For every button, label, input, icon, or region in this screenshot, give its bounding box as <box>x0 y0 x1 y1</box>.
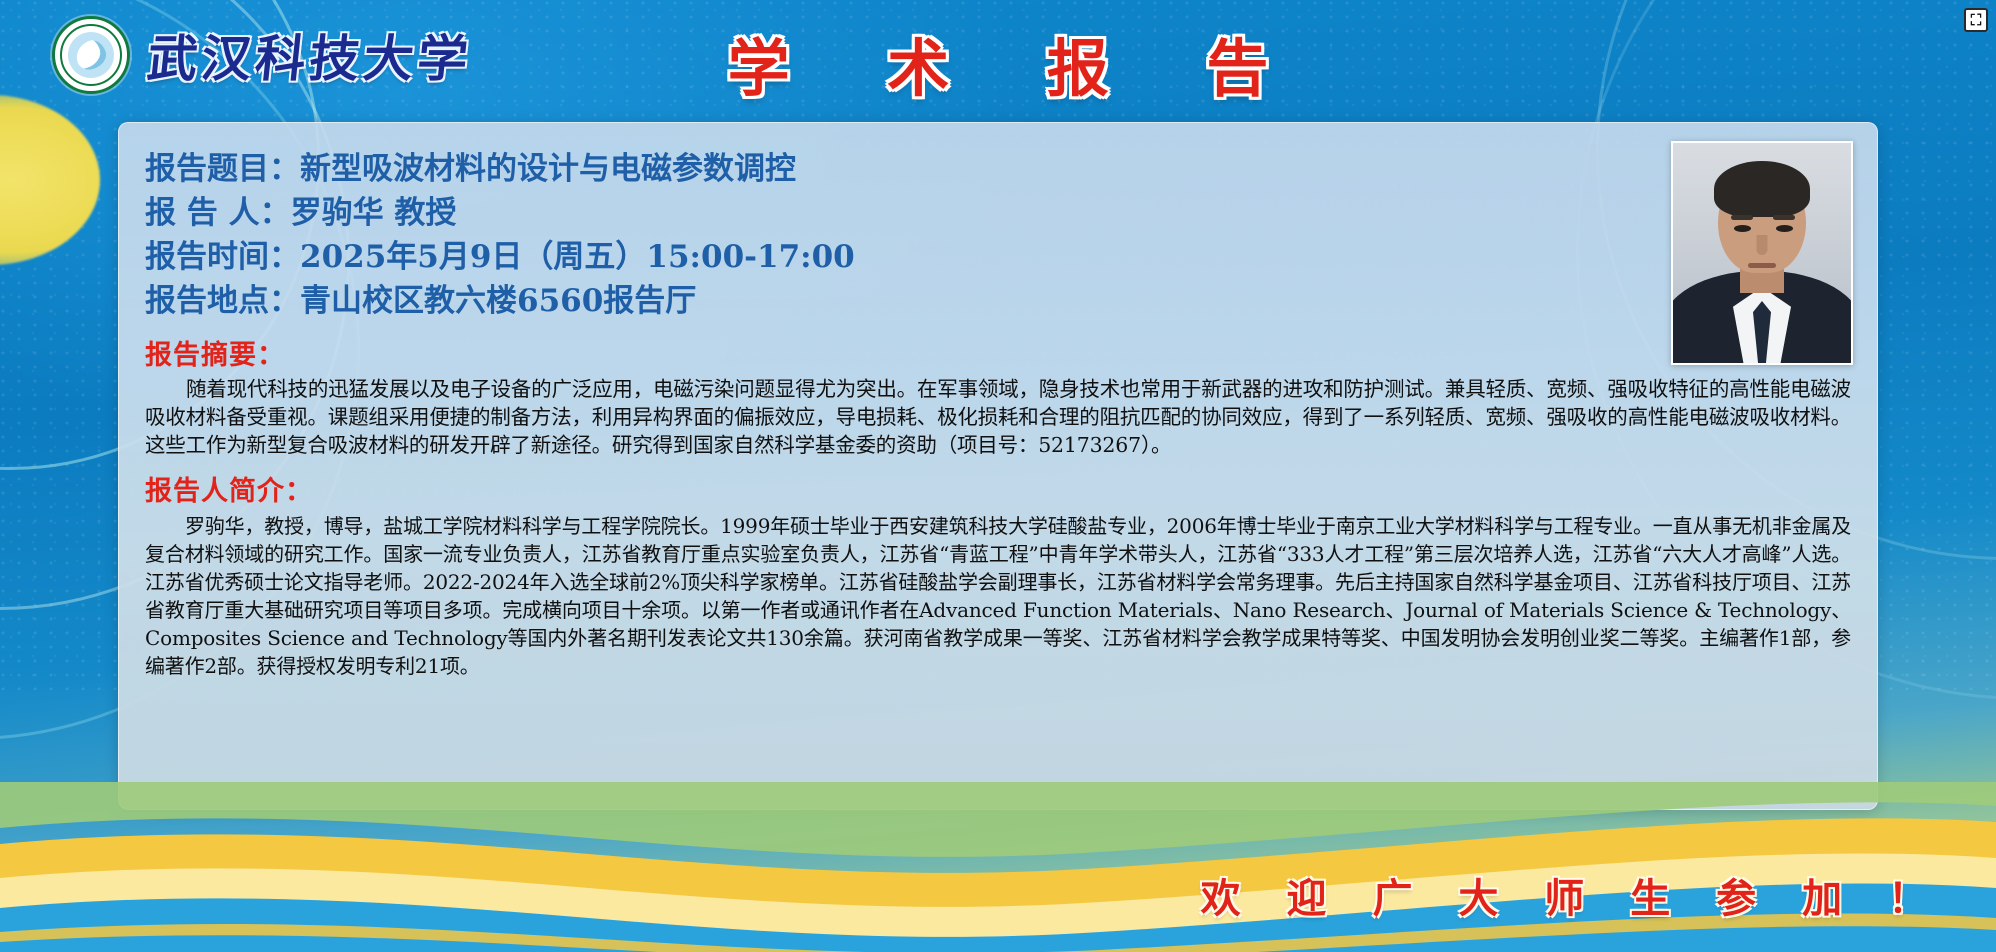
university-name: 武汉科技大学 <box>144 19 476 91</box>
time-line: 报告时间：2025年5月9日（周五）15:00-17:00 <box>145 235 1851 279</box>
portrait-hair <box>1714 161 1810 217</box>
bio-text: 罗驹华，教授，博导，盐城工学院材料科学与工程学院院长。1999年硕士毕业于西安建… <box>145 512 1851 680</box>
portrait-mouth <box>1748 263 1776 268</box>
portrait-eye-left <box>1734 225 1751 232</box>
time-label: 报告时间： <box>145 239 300 275</box>
seminar-poster: ⛶ 武汉科技大学 学 术 报 告 报告题目：新型吸波材料的设计 <box>0 0 1996 952</box>
talk-title-label: 报告题目： <box>145 151 300 187</box>
content-card: 报告题目：新型吸波材料的设计与电磁参数调控 报 告 人：罗驹华 教授 报告时间：… <box>118 122 1878 810</box>
portrait-nose <box>1757 235 1768 255</box>
portrait-eye-right <box>1776 225 1793 232</box>
place-label: 报告地点： <box>145 283 300 319</box>
portrait-brow-left <box>1731 215 1753 220</box>
speaker-value: 罗驹华 教授 <box>291 195 457 231</box>
speaker-portrait <box>1671 141 1853 365</box>
time-value: 2025年5月9日（周五）15:00-17:00 <box>300 239 855 275</box>
welcome-message: 欢 迎 广 大 师 生 参 加 ！ <box>1185 866 1944 924</box>
abstract-text: 随着现代科技的迅猛发展以及电子设备的广泛应用，电磁污染问题显得尤为突出。在军事领… <box>145 376 1851 459</box>
speaker-line: 报 告 人：罗驹华 教授 <box>145 191 1851 235</box>
emblem-inner-shape <box>68 32 114 78</box>
abstract-heading: 报告摘要： <box>145 333 1851 372</box>
page-title: 学 术 报 告 <box>690 18 1307 108</box>
university-logo: 武汉科技大学 <box>52 16 472 94</box>
talk-title-line: 报告题目：新型吸波材料的设计与电磁参数调控 <box>145 147 1851 191</box>
place-value: 青山校区教六楼6560报告厅 <box>300 283 696 319</box>
bio-heading: 报告人简介： <box>145 469 1851 508</box>
speaker-label: 报 告 人： <box>145 195 291 231</box>
talk-title-value: 新型吸波材料的设计与电磁参数调控 <box>300 151 796 187</box>
poster-header: 武汉科技大学 学 术 报 告 <box>0 0 1996 106</box>
place-line: 报告地点：青山校区教六楼6560报告厅 <box>145 279 1851 323</box>
portrait-brow-right <box>1773 215 1795 220</box>
university-emblem-icon <box>52 16 130 94</box>
